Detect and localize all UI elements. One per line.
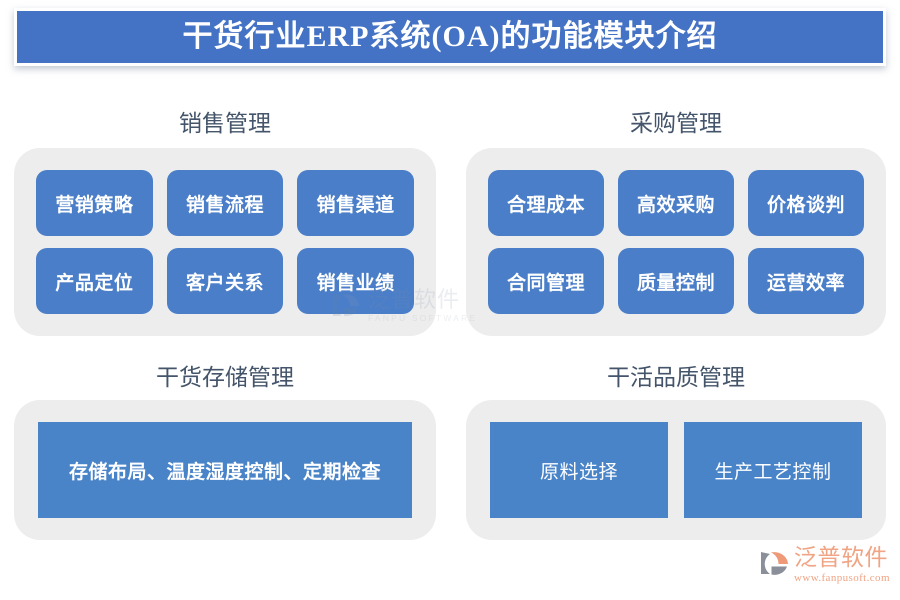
chip-grid-purchase: 合理成本 高效采购 价格谈判 合同管理 质量控制 运营效率	[466, 148, 886, 336]
brand-url: www.fanpusoft.com	[794, 573, 890, 584]
brand-text-group: 泛普软件 www.fanpusoft.com	[794, 546, 890, 584]
module-chip[interactable]: 营销策略	[36, 170, 153, 236]
panel-sales: 营销策略 销售流程 销售渠道 产品定位 客户关系 销售业绩	[14, 148, 436, 336]
module-chip[interactable]: 质量控制	[618, 248, 734, 314]
module-bar[interactable]: 原料选择	[490, 422, 668, 518]
section-heading-quality: 干活品质管理	[466, 358, 886, 392]
module-chip[interactable]: 客户关系	[167, 248, 284, 314]
module-chip[interactable]: 销售业绩	[297, 248, 414, 314]
slide-canvas: 干货行业ERP系统(OA)的功能模块介绍 销售管理 采购管理 干货存储管理 干活…	[0, 0, 900, 600]
panel-quality: 原料选择 生产工艺控制	[466, 400, 886, 540]
module-bar[interactable]: 生产工艺控制	[684, 422, 862, 518]
module-chip[interactable]: 销售流程	[167, 170, 284, 236]
module-chip[interactable]: 价格谈判	[748, 170, 864, 236]
module-bar[interactable]: 存储布局、温度湿度控制、定期检查	[38, 422, 412, 518]
brand-logo: 泛普软件 www.fanpusoft.com	[758, 546, 890, 592]
module-chip[interactable]: 运营效率	[748, 248, 864, 314]
section-heading-sales: 销售管理	[14, 104, 436, 138]
chip-grid-sales: 营销策略 销售流程 销售渠道 产品定位 客户关系 销售业绩	[14, 148, 436, 336]
bar-row-storage: 存储布局、温度湿度控制、定期检查	[14, 400, 436, 540]
module-chip[interactable]: 销售渠道	[297, 170, 414, 236]
module-chip[interactable]: 合同管理	[488, 248, 604, 314]
page-title: 干货行业ERP系统(OA)的功能模块介绍	[183, 22, 718, 52]
panel-storage: 存储布局、温度湿度控制、定期检查	[14, 400, 436, 540]
bar-row-quality: 原料选择 生产工艺控制	[466, 400, 886, 540]
title-banner: 干货行业ERP系统(OA)的功能模块介绍	[14, 8, 886, 66]
fanpu-logo-icon	[758, 547, 792, 582]
module-chip[interactable]: 产品定位	[36, 248, 153, 314]
module-chip[interactable]: 高效采购	[618, 170, 734, 236]
panel-purchase: 合理成本 高效采购 价格谈判 合同管理 质量控制 运营效率	[466, 148, 886, 336]
section-heading-purchase: 采购管理	[466, 104, 886, 138]
section-heading-storage: 干货存储管理	[14, 358, 436, 392]
brand-name: 泛普软件	[794, 546, 890, 569]
module-chip[interactable]: 合理成本	[488, 170, 604, 236]
